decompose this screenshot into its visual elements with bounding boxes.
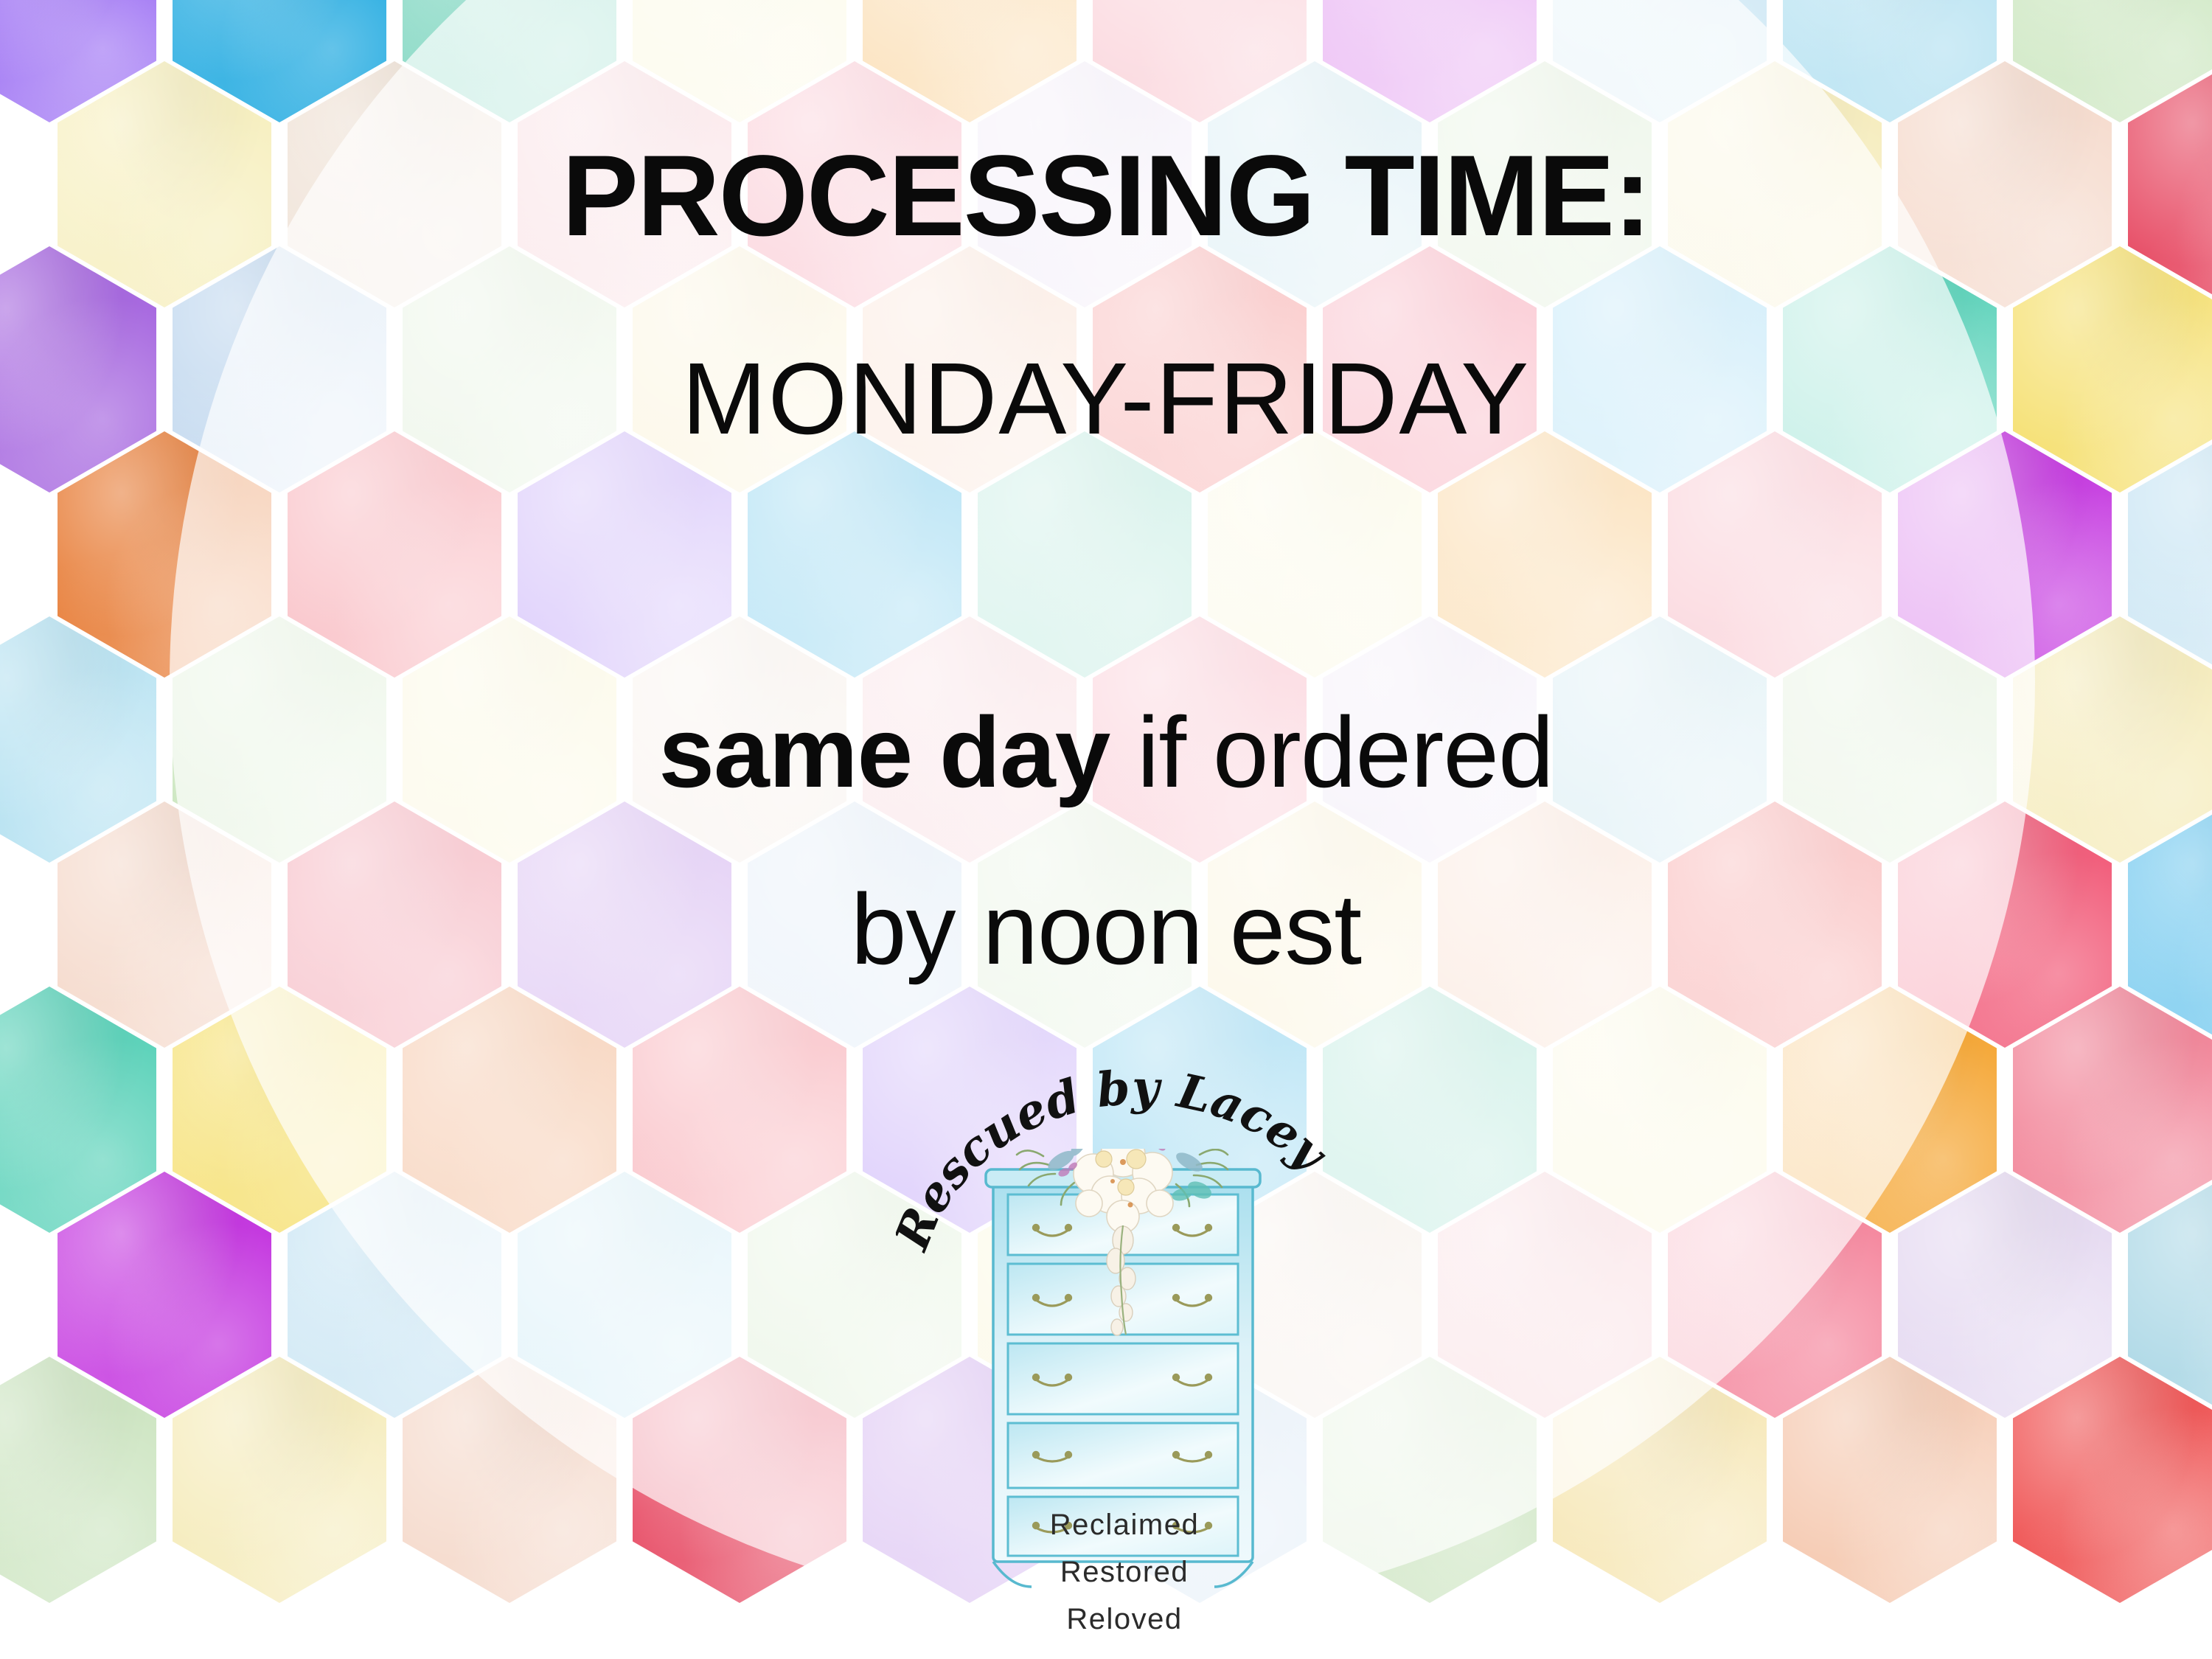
poster-canvas: PROCESSING TIME: MONDAY-FRIDAY same day … xyxy=(0,0,2212,1659)
subtitle-days: MONDAY-FRIDAY xyxy=(0,348,2212,450)
page-title: PROCESSING TIME: xyxy=(0,139,2212,254)
tagline-line-1: Reclaimed xyxy=(896,1509,1353,1542)
brand-logo: Rescued by Lacey xyxy=(896,1031,1353,1635)
same-day-line: same day if ordered xyxy=(0,702,2212,802)
if-ordered-regular: if ordered xyxy=(1110,696,1553,808)
same-day-bold: same day xyxy=(658,696,1110,808)
tagline-line-3: Reloved xyxy=(896,1603,1353,1636)
dresser-illustration-icon xyxy=(978,1149,1267,1621)
tagline-line-2: Restored xyxy=(896,1556,1353,1589)
by-noon-line: by noon est xyxy=(0,879,2212,979)
